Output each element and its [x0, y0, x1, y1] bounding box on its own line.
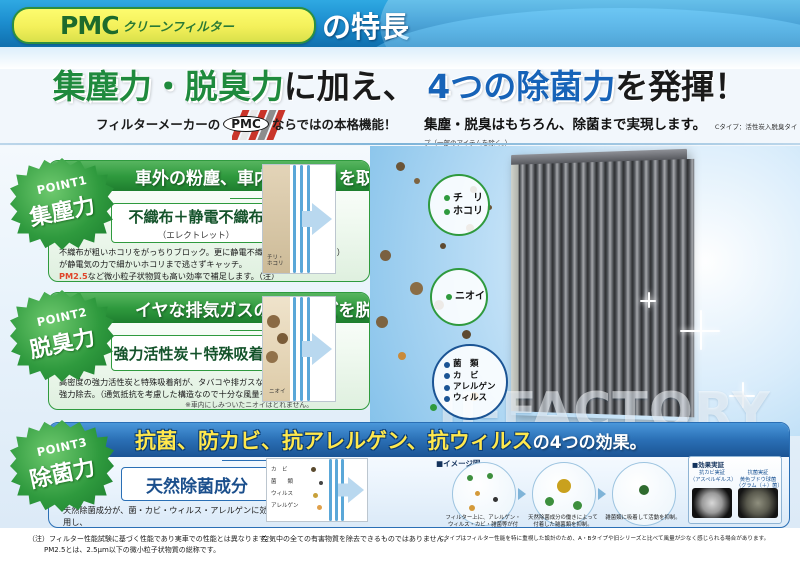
sub-right-main: 集塵・脱臭はもちろん、除菌まで実現します。	[424, 117, 706, 133]
point1-tagbox: 不織布＋静電不織布 （エレクトレット）	[111, 203, 281, 243]
point3-panel: 抗菌、防カビ、抗アレルゲン、抗ウィルス の4つの効果。 天然除菌成分 天然除菌成…	[48, 422, 790, 528]
point3-badge: POINT3 除菌力	[10, 420, 114, 512]
diagram-caption-3: 雑菌類に吸着して活動を抑制。	[603, 515, 683, 522]
proof-dish-left	[692, 488, 732, 518]
pm25-highlight: PM2.5	[59, 271, 88, 281]
divider-line	[0, 143, 800, 145]
point2-tagbox: 強力活性炭＋特殊吸着剤	[111, 335, 281, 371]
callout-item: ウィルス	[444, 393, 506, 404]
sub-left-text: フィルターメーカーの PMC ならではの本格機能！	[96, 114, 396, 133]
sub-strip: フィルターメーカーの PMC ならではの本格機能！ 集塵・脱臭はもちろん、除菌ま…	[0, 106, 800, 144]
point3-micro-label: カ ビ	[271, 467, 288, 474]
footer: （注）フィルター性能試験に基づく性能であり実車での性能とは異なります。 PM2.…	[0, 528, 800, 567]
point2-micro-diagram: ニオイ	[262, 296, 336, 402]
headline-part2: に加え、	[284, 67, 416, 106]
point3-tag-main: 天然除菌成分	[146, 472, 248, 497]
filter-product-photo	[511, 149, 687, 421]
dust-particle	[414, 178, 420, 184]
callout-item: ホコリ	[444, 205, 488, 219]
dust-particle	[440, 243, 446, 249]
footer-line2: PM2.5とは、2.5μm以下の微小粒子状物質の総称です。	[28, 545, 272, 556]
pmc-oval-logo: PMC	[223, 116, 269, 132]
point3-micro-label: 菌 類	[271, 479, 293, 486]
main-headline: 集塵力・脱臭力に加え、 4つの除菌力を発揮！	[0, 60, 800, 108]
point3-tagbox: 天然除菌成分	[121, 467, 273, 501]
headline-part1: 集塵力・脱臭力	[53, 67, 284, 106]
brand-subtitle: クリーンフィルター	[123, 16, 234, 35]
headline-part3: 4つの除菌力	[427, 67, 615, 106]
footer-note: （注）フィルター性能試験に基づく性能であり実車での性能とは異なります。 PM2.…	[28, 534, 272, 555]
footer-line1: フィルター性能試験に基づく性能であり実車での性能とは異なります。	[49, 535, 272, 543]
point2-body-note: ※車内にしみついたニオイはとれません。	[59, 401, 359, 410]
dust-particle	[376, 316, 388, 328]
callout-dust: チ リ ホコリ	[428, 174, 490, 236]
dust-particle	[398, 352, 406, 360]
callout-item: アレルゲン	[444, 382, 506, 393]
sub-left-pre: フィルターメーカーの	[96, 114, 220, 133]
dust-particle	[396, 162, 405, 171]
proof-right-label: 抗菌実証黄色ブドウ球菌（グラム（＋）菌）	[736, 470, 780, 490]
point3-micro-label: ウィルス	[271, 491, 293, 498]
diagram-arrow-2	[598, 488, 606, 500]
point2-badge: POINT2 脱臭力	[10, 290, 114, 382]
brand-pill: PMC クリーンフィルター	[12, 7, 316, 44]
point3-heading-yellow: 抗菌、防カビ、抗アレルゲン、抗ウィルス	[135, 425, 533, 455]
point1-tag-sub: （エレクトレット）	[158, 229, 235, 241]
point3-header: 抗菌、防カビ、抗アレルゲン、抗ウィルス の4つの効果。	[49, 423, 789, 457]
diagram-arrow-1	[518, 488, 526, 500]
proof-dish-right	[738, 488, 778, 518]
brand-logo: PMC	[60, 11, 119, 40]
callout-item: チ リ	[444, 192, 488, 206]
proof-left-label: 抗カビ実証（アスペルギルス）	[690, 470, 734, 483]
callout-odor: ニオイ	[430, 268, 488, 326]
top-banner: PMC クリーンフィルター の特長	[0, 0, 800, 47]
dust-particle	[430, 404, 437, 411]
point2-tag-main: 強力活性炭＋特殊吸着剤	[113, 343, 278, 364]
point3-leader-line	[222, 460, 268, 461]
proof-title: ■効果実証	[692, 459, 724, 469]
footer-middle: 空気中の全ての有害物質を除去できるものではありません。	[262, 534, 451, 544]
sub-left-post: ならではの本格機能！	[272, 114, 397, 133]
point1-micro-diagram: チリ・ホコリ	[262, 164, 336, 274]
footer-right: Cタイプはフィルター性能を特に重視した設計のため、A・Bタイプや旧シリーズと比べ…	[440, 534, 769, 542]
point1-body-line3-rest: など微小粒子状物質も高い効率で補足します。（注）	[88, 271, 280, 281]
page-title: の特長	[322, 4, 409, 46]
dust-particle	[410, 282, 423, 295]
footer-note-mark: （注）	[28, 535, 49, 543]
point3-micro-diagram: カ ビ 菌 類 ウィルス アレルゲン	[266, 458, 368, 522]
callout-item: 菌 類	[444, 359, 506, 370]
callout-germs: 菌 類 カ ビ アレルゲン ウィルス	[432, 344, 508, 420]
point2-micro-label: ニオイ	[269, 389, 286, 396]
headline-part4: を発揮！	[615, 67, 747, 106]
point1-leader-line	[230, 198, 264, 199]
point1-badge: POINT1 集塵力	[10, 158, 114, 250]
dust-particle	[380, 250, 391, 261]
infographic-page: PMC クリーンフィルター の特長 集塵力・脱臭力に加え、 4つの除菌力を発揮！…	[0, 0, 800, 567]
point3-micro-label: アレルゲン	[271, 503, 299, 510]
point2-leader-line	[230, 330, 264, 331]
point1-micro-label: チリ・ホコリ	[267, 255, 284, 268]
dust-particle	[462, 330, 471, 339]
point3-heading-white: の4つの効果。	[533, 428, 647, 453]
point1-tag-main: 不織布＋静電不織布	[128, 206, 263, 227]
callout-item: カ ビ	[444, 371, 506, 382]
callout-item: ニオイ	[446, 290, 486, 304]
